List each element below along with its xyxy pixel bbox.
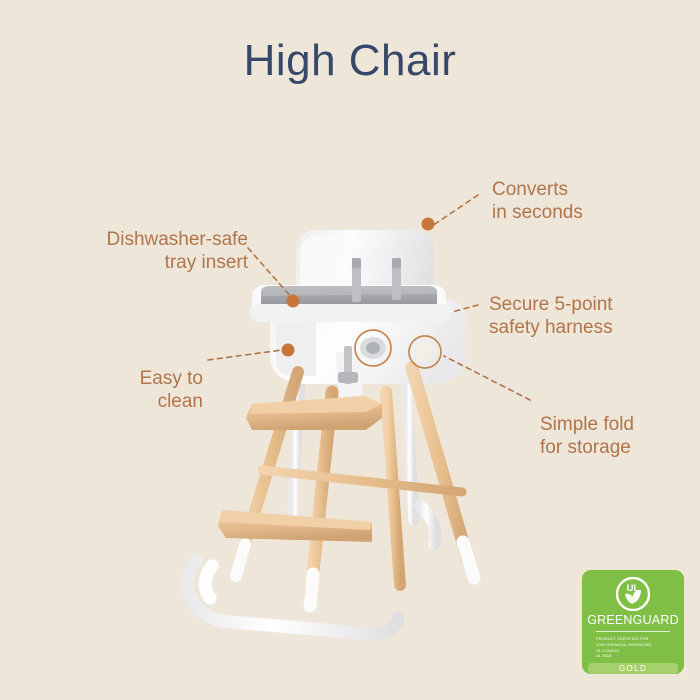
greenguard-gold-badge: UL GREENGUARD PRODUCT CERTIFIED FOR LOW … [582,570,684,674]
ul-certification-icon: UL [616,577,650,611]
callout-converts-in-seconds: Converts in seconds [492,155,662,225]
badge-tier-label: GOLD [619,664,647,673]
callout-easy-to-clean: Easy to clean [58,344,203,414]
callout-label: Converts in seconds [492,179,583,223]
callout-dishwasher-safe-tray-insert: Dishwasher-safe tray insert [60,205,248,275]
greenguard-wordmark: GREENGUARD [587,613,679,627]
badge-tier-bar: GOLD [588,663,678,674]
dot-converts-in-seconds [422,218,435,231]
wooden-seat-plate [246,396,382,430]
callout-label: Simple fold for storage [540,414,634,458]
tray-assembly [250,285,450,322]
dot-dishwasher-safe-tray-insert [287,295,300,308]
callout-label: Dishwasher-safe tray insert [107,229,249,273]
badge-fine-print: PRODUCT CERTIFIED FOR LOW CHEMICAL EMISS… [596,636,670,660]
infographic-canvas: High Chair [0,0,700,700]
callout-label: Easy to clean [140,368,203,412]
callout-secure-5-point-safety-harness: Secure 5-point safety harness [489,270,669,340]
dot-easy-to-clean [282,344,295,357]
badge-divider [596,631,670,632]
leader-converts-in-seconds [432,195,478,226]
callout-simple-fold-for-storage: Simple fold for storage [540,390,700,460]
callout-label: Secure 5-point safety harness [489,294,613,338]
